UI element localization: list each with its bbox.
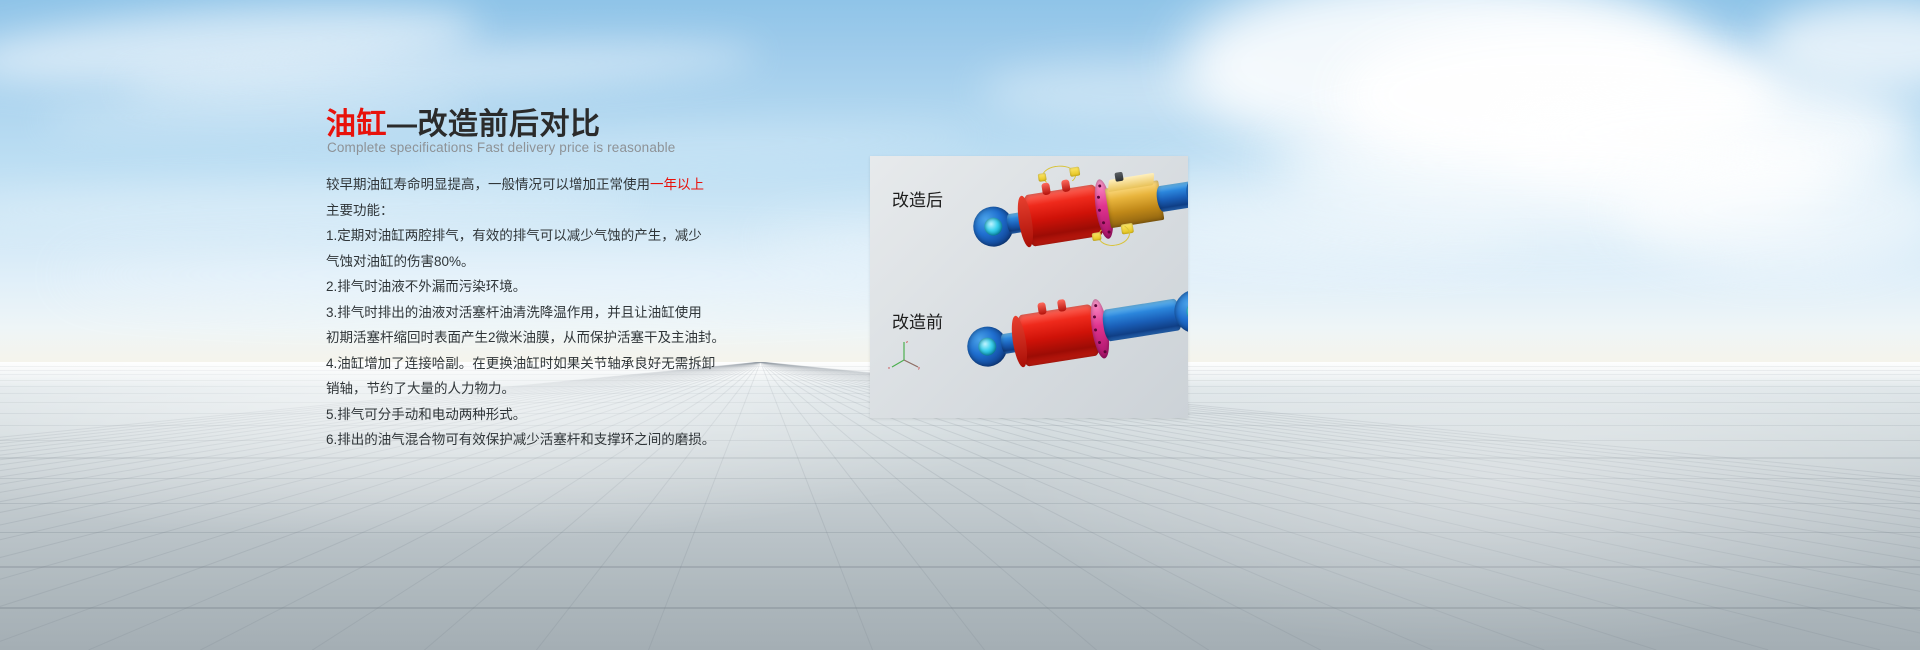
feature-line-highlight: 一年以上 [650,177,704,192]
barrel-port-nub [1057,299,1067,312]
banner-content: 油缸—改造前后对比 Complete specifications Fast d… [0,0,1920,650]
feature-line-text: 销轴，节约了大量的人力物力。 [326,381,515,396]
feature-line-text: 4.油缸增加了连接哈副。在更换油缸时如果关节轴承良好无需拆卸 [326,356,715,371]
label-before: 改造前 [892,308,943,333]
feature-line: 6.排出的油气混合物可有效保护减少活塞杆和支撑环之间的磨损。 [326,427,846,453]
feature-line-text: 主要功能： [326,203,394,218]
feature-line: 3.排气时排出的油液对活塞杆油清洗降温作用，并且让油缸使用 [326,300,846,326]
valve-stem [1114,172,1123,182]
feature-line-text: 5.排气可分手动和电动两种形式。 [326,407,526,422]
feature-line-text: 较早期油缸寿命明显提高，一般情况可以增加正常使用 [326,177,650,192]
svg-text:y: y [918,365,920,370]
feature-line: 气蚀对油缸的伤害80%。 [326,249,846,275]
feature-line: 初期活塞杆缩回时表面产生2微米油膜，从而保护活塞干及主油封。 [326,325,846,351]
page-title: 油缸—改造前后对比 [326,108,601,141]
eye-bore [977,336,998,357]
label-after: 改造后 [892,186,943,211]
vent-fitting [1038,173,1047,182]
feature-line-text: 3.排气时排出的油液对活塞杆油清洗降温作用，并且让油缸使用 [326,305,702,320]
comparison-image-panel: 改造后 改造前 z x y [870,156,1188,418]
vent-fitting [1069,166,1080,176]
axis-triad-icon: z x y [888,336,922,370]
feature-line: 4.油缸增加了连接哈副。在更换油缸时如果关节轴承良好无需拆卸 [326,351,846,377]
svg-text:z: z [906,339,908,344]
feature-line-text: 6.排出的油气混合物可有效保护减少活塞杆和支撑环之间的磨损。 [326,432,715,447]
feature-line-text: 1.定期对油缸两腔排气，有效的排气可以减少气蚀的产生，减少 [326,228,702,243]
feature-line-text: 2.排气时油液不外漏而污染环境。 [326,279,526,294]
feature-line: 较早期油缸寿命明显提高，一般情况可以增加正常使用一年以上 [326,172,846,198]
feature-line: 2.排气时油液不外漏而污染环境。 [326,274,846,300]
page-title-rest: —改造前后对比 [387,108,601,141]
piston-rod [1101,298,1183,342]
feature-line: 5.排气可分手动和电动两种形式。 [326,402,846,428]
feature-line-text: 初期活塞杆缩回时表面产生2微米油膜，从而保护活塞干及主油封。 [326,330,725,345]
feature-line-text: 气蚀对油缸的伤害80%。 [326,254,475,269]
svg-text:x: x [888,365,890,370]
feature-line: 1.定期对油缸两腔排气，有效的排气可以减少气蚀的产生，减少 [326,223,846,249]
cylinder-before-modification [956,262,1188,397]
barrel-port-nub [1037,302,1047,315]
drain-fitting [1092,232,1102,241]
page-subtitle: Complete specifications Fast delivery pr… [327,140,675,155]
eye-bore [1185,300,1188,323]
feature-description: 较早期油缸寿命明显提高，一般情况可以增加正常使用一年以上主要功能：1.定期对油缸… [326,172,846,453]
product-banner: 油缸—改造前后对比 Complete specifications Fast d… [0,0,1920,650]
piston-rod [1155,180,1188,212]
feature-line: 销轴，节约了大量的人力物力。 [326,376,846,402]
page-title-accent: 油缸 [326,108,387,141]
cylinder-after-modification [962,156,1188,278]
eye-bore [983,216,1004,237]
feature-line: 主要功能： [326,198,846,224]
